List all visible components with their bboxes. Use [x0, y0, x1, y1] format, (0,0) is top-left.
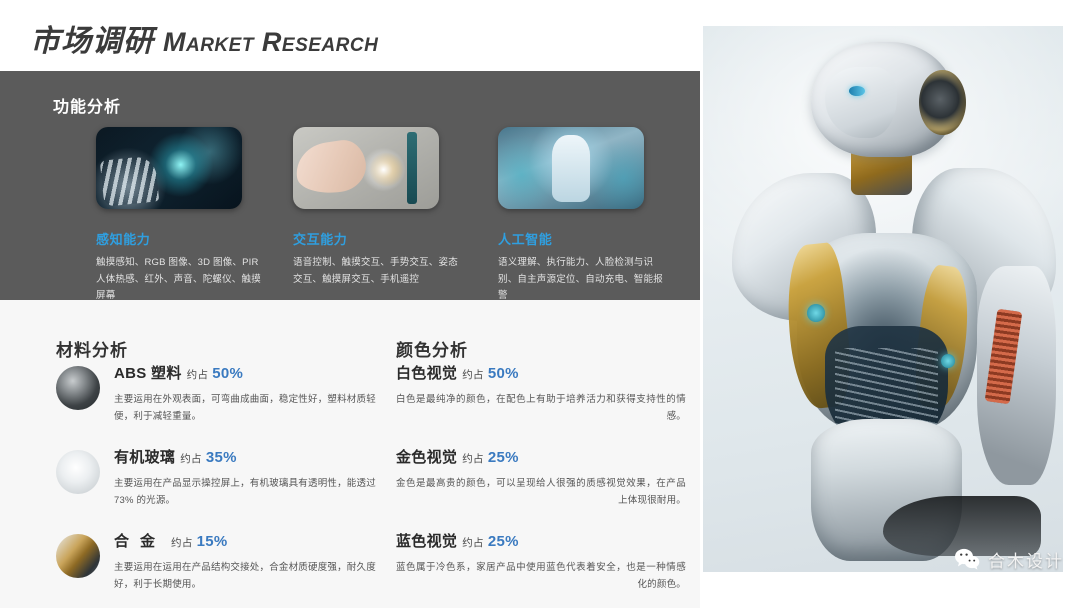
material-item-title: 合金约占15%: [114, 532, 376, 552]
color-item-percent: 50%: [488, 365, 519, 382]
material-item-name: 合金: [114, 533, 166, 550]
function-card[interactable]: 交互能力 语音控制、触摸交互、手势交互、姿态交互、触摸屏交互、手机遥控: [268, 127, 464, 288]
robot-face: [825, 67, 897, 138]
color-item-name: 金色视觉: [396, 449, 457, 466]
page-title-en: Market Research: [163, 27, 378, 57]
acrylic-glass-thumbnail: [56, 450, 100, 494]
material-item-title: ABS 塑料约占50%: [114, 364, 376, 384]
function-card-description: 触摸感知、RGB 图像、3D 图像、PIR 人体热感、红外、声音、陀螺仪、触摸屏…: [71, 255, 267, 305]
sensing-tech-thumbnail: [96, 127, 242, 209]
color-item-approx: 约占: [462, 453, 484, 465]
material-item-description: 主要运用在运用在产品结构交接处，合金材质硬度强，耐久度好，利于长期使用。: [114, 559, 376, 594]
ai-robot-thumbnail: [498, 127, 644, 209]
color-item[interactable]: 金色视觉约占25% 金色是最高贵的颜色，可以呈现给人很强的质感视觉效果，在产品上…: [396, 448, 686, 522]
slide-header: 市场调研Market Research: [0, 0, 700, 71]
function-card-description: 语音控制、触摸交互、手势交互、姿态交互、触摸屏交互、手机遥控: [268, 255, 464, 288]
material-item-approx: 约占: [187, 369, 209, 381]
material-item-title: 有机玻璃约占35%: [114, 448, 376, 468]
alloy-thumbnail: [56, 534, 100, 578]
function-card-label: 感知能力: [71, 229, 267, 248]
function-card-label: 人工智能: [473, 229, 669, 248]
function-card-label: 交互能力: [268, 229, 464, 248]
function-card-list: 感知能力 触摸感知、RGB 图像、3D 图像、PIR 人体热感、红外、声音、陀螺…: [53, 127, 683, 287]
color-analysis-title: 颜色分析: [396, 336, 468, 361]
color-item-title: 白色视觉约占50%: [396, 364, 686, 384]
material-item-approx: 约占: [171, 537, 193, 549]
robot-eye: [849, 86, 865, 96]
material-item[interactable]: 有机玻璃约占35% 主要运用在产品显示操控屏上，有机玻璃具有透明性，能透过 73…: [56, 448, 376, 522]
touch-interaction-thumbnail: [293, 127, 439, 209]
material-item-list: ABS 塑料约占50% 主要运用在外观表面，可弯曲成曲面，稳定性好，塑料材质轻便…: [56, 364, 376, 616]
material-item-name: 有机玻璃: [114, 449, 175, 466]
color-item-percent: 25%: [488, 449, 519, 466]
color-item-approx: 约占: [462, 537, 484, 549]
function-card-description: 语义理解、执行能力、人脸检测与识别、自主声源定位、自动充电、智能报警: [473, 255, 669, 305]
analysis-section: 材料分析 ABS 塑料约占50% 主要运用在外观表面，可弯曲成曲面，稳定性好，塑…: [0, 300, 700, 608]
color-item-description: 蓝色属于冷色系，家居产品中使用蓝色代表着安全，也是一种情感化的颜色。: [396, 559, 686, 594]
material-item-name: ABS 塑料: [114, 365, 182, 382]
color-item[interactable]: 白色视觉约占50% 白色是最纯净的颜色，在配色上有助于培养活力和获得支持性的情感…: [396, 364, 686, 438]
page-title-cn: 市场调研: [30, 25, 154, 58]
watermark-text: 合木设计: [988, 547, 1064, 572]
color-item-name: 白色视觉: [396, 365, 457, 382]
color-item-description: 金色是最高贵的颜色，可以呈现给人很强的质感视觉效果，在产品上体现很耐用。: [396, 475, 686, 510]
color-item-approx: 约占: [462, 369, 484, 381]
slide-root: 市场调研Market Research 功能分析 感知能力 触摸感知、RGB 图…: [0, 0, 1080, 608]
material-item[interactable]: 合金约占15% 主要运用在运用在产品结构交接处，合金材质硬度强，耐久度好，利于长…: [56, 532, 376, 606]
page-title: 市场调研Market Research: [30, 16, 378, 60]
abs-plastic-thumbnail: [56, 366, 100, 410]
function-analysis-title: 功能分析: [53, 93, 121, 117]
material-analysis-title: 材料分析: [56, 336, 128, 361]
material-item-description: 主要运用在产品显示操控屏上，有机玻璃具有透明性，能透过 73% 的光源。: [114, 475, 376, 510]
wechat-icon: [954, 546, 980, 572]
color-item-title: 金色视觉约占25%: [396, 448, 686, 468]
function-card[interactable]: 感知能力 触摸感知、RGB 图像、3D 图像、PIR 人体热感、红外、声音、陀螺…: [71, 127, 267, 305]
color-item-title: 蓝色视觉约占25%: [396, 532, 686, 552]
material-item-percent: 50%: [212, 365, 243, 382]
material-item-percent: 15%: [197, 533, 228, 550]
material-item-percent: 35%: [206, 449, 237, 466]
color-item-description: 白色是最纯净的颜色，在配色上有助于培养活力和获得支持性的情感。: [396, 391, 686, 426]
material-item[interactable]: ABS 塑料约占50% 主要运用在外观表面，可弯曲成曲面，稳定性好，塑料材质轻便…: [56, 364, 376, 438]
watermark: 合木设计: [954, 546, 1064, 572]
color-item-list: 白色视觉约占50% 白色是最纯净的颜色，在配色上有助于培养活力和获得支持性的情感…: [396, 364, 686, 616]
function-analysis-panel: 功能分析 感知能力 触摸感知、RGB 图像、3D 图像、PIR 人体热感、红外、…: [0, 71, 700, 300]
color-item-name: 蓝色视觉: [396, 533, 457, 550]
robot-indicator-light-right: [941, 354, 955, 368]
material-item-description: 主要运用在外观表面，可弯曲成曲面，稳定性好，塑料材质轻便，利于减轻重量。: [114, 391, 376, 426]
function-card[interactable]: 人工智能 语义理解、执行能力、人脸检测与识别、自主声源定位、自动充电、智能报警: [473, 127, 669, 305]
color-item[interactable]: 蓝色视觉约占25% 蓝色属于冷色系，家居产品中使用蓝色代表着安全，也是一种情感化…: [396, 532, 686, 606]
humanoid-robot-photo: [703, 26, 1063, 572]
material-item-approx: 约占: [180, 453, 202, 465]
color-item-percent: 25%: [488, 533, 519, 550]
robot-ear-module: [919, 70, 966, 136]
